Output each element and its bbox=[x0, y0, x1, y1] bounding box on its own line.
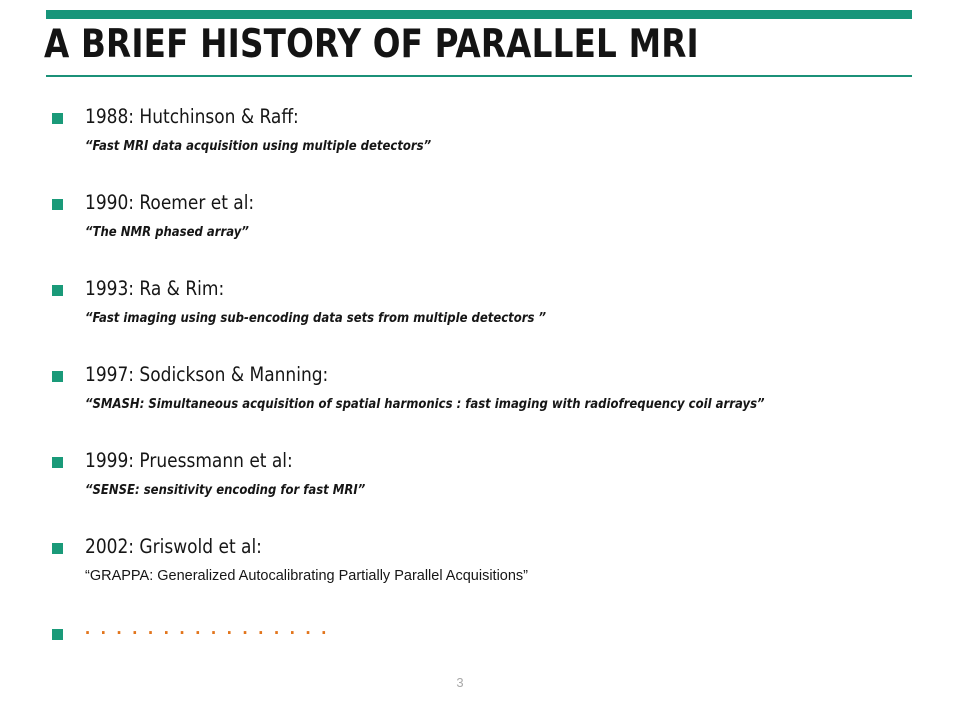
square-bullet-icon bbox=[52, 457, 63, 468]
list-item: 2002: Griswold et al: “GRAPPA: Generaliz… bbox=[0, 534, 960, 620]
entry-heading: 1997: Sodickson & Manning: bbox=[85, 362, 328, 388]
entry-caption-ellipsis: · · · · · · · · · · · · · · · · bbox=[85, 624, 330, 644]
slide-canvas: A BRIEF HISTORY OF PARALLEL MRI 1988: Hu… bbox=[0, 0, 960, 720]
page-number: 3 bbox=[0, 675, 920, 690]
entry-heading: 1993: Ra & Rim: bbox=[85, 276, 224, 302]
square-bullet-icon bbox=[52, 113, 63, 124]
entry-heading: 1990: Roemer et al: bbox=[85, 190, 254, 216]
entry-caption: “SMASH: Simultaneous acquisition of spat… bbox=[85, 394, 765, 414]
list-item: 1990: Roemer et al: “The NMR phased arra… bbox=[0, 190, 960, 276]
page-title: A BRIEF HISTORY OF PARALLEL MRI bbox=[44, 22, 872, 68]
square-bullet-icon bbox=[52, 629, 63, 640]
list-item: · · · · · · · · · · · · · · · · bbox=[0, 620, 960, 706]
entry-caption: “SENSE: sensitivity encoding for fast MR… bbox=[85, 480, 365, 500]
entry-caption: “GRAPPA: Generalized Autocalibrating Par… bbox=[85, 566, 528, 586]
entry-caption: “Fast imaging using sub-encoding data se… bbox=[85, 308, 546, 328]
entry-heading: 1988: Hutchinson & Raff: bbox=[85, 104, 299, 130]
entry-caption: “Fast MRI data acquisition using multipl… bbox=[85, 136, 431, 156]
title-underline-rule bbox=[46, 75, 912, 77]
square-bullet-icon bbox=[52, 285, 63, 296]
entry-heading: 2002: Griswold et al: bbox=[85, 534, 262, 560]
history-list: 1988: Hutchinson & Raff: “Fast MRI data … bbox=[0, 104, 960, 706]
square-bullet-icon bbox=[52, 199, 63, 210]
list-item: 1999: Pruessmann et al: “SENSE: sensitiv… bbox=[0, 448, 960, 534]
list-item: 1997: Sodickson & Manning: “SMASH: Simul… bbox=[0, 362, 960, 448]
square-bullet-icon bbox=[52, 371, 63, 382]
header-accent-bar bbox=[46, 10, 912, 19]
entry-heading: 1999: Pruessmann et al: bbox=[85, 448, 293, 474]
list-item: 1993: Ra & Rim: “Fast imaging using sub-… bbox=[0, 276, 960, 362]
entry-caption: “The NMR phased array” bbox=[85, 222, 249, 242]
square-bullet-icon bbox=[52, 543, 63, 554]
list-item: 1988: Hutchinson & Raff: “Fast MRI data … bbox=[0, 104, 960, 190]
